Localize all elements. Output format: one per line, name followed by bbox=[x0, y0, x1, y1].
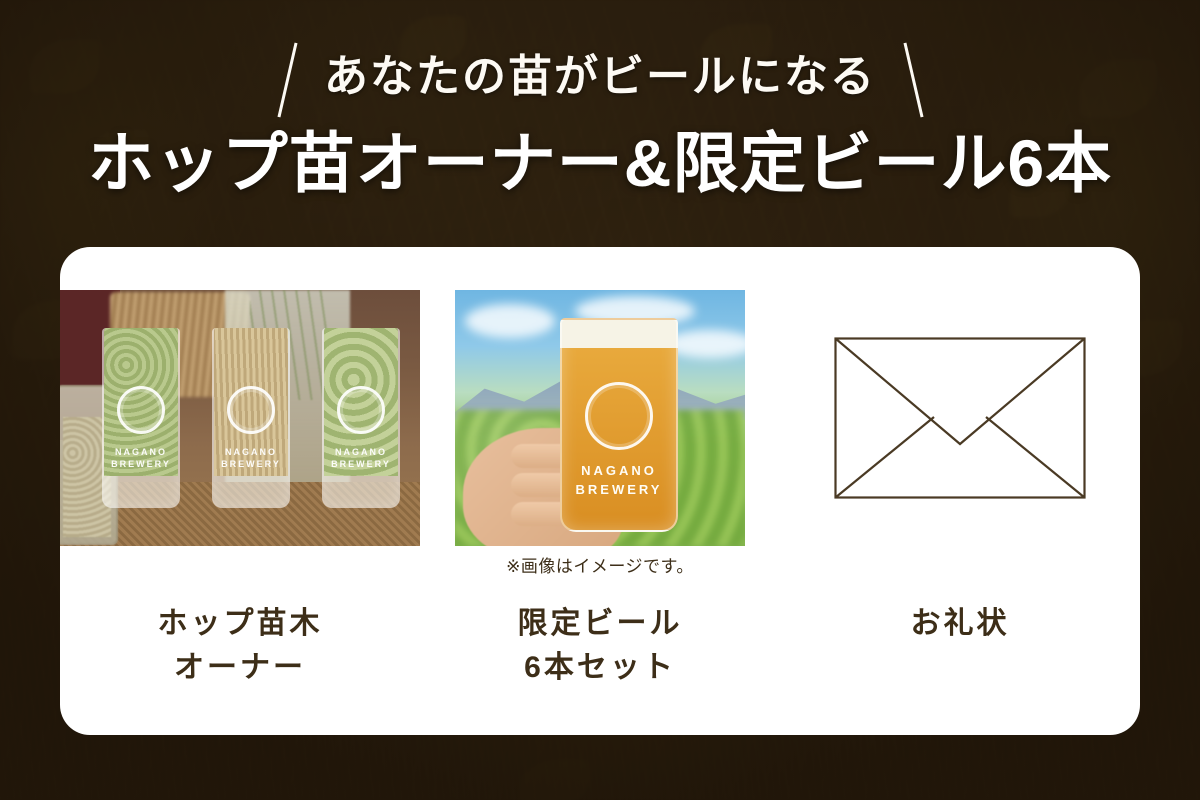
item-limited-beer: NAGANO BREWERY ※画像はイメージです。 限定ビール 6本セット bbox=[420, 247, 780, 735]
photo-hop-glasses: NAGANO BREWERY NAGANO BREWERY NAGANO BRE… bbox=[60, 290, 420, 546]
brewery-seal-icon bbox=[585, 382, 653, 450]
subtitle-row: あなたの苗がビールになる bbox=[0, 34, 1200, 120]
glass-brand-text: NAGANO BREWERY bbox=[104, 446, 178, 470]
glass-hop-cones: NAGANO BREWERY bbox=[322, 328, 400, 508]
item-caption: 限定ビール 6本セット bbox=[420, 602, 780, 689]
envelope-icon bbox=[834, 337, 1086, 499]
brewery-seal-icon bbox=[117, 386, 165, 434]
slash-left-icon bbox=[270, 40, 304, 114]
brewery-seal-icon bbox=[227, 386, 275, 434]
glass-hop-pellets: NAGANO BREWERY bbox=[102, 328, 180, 508]
item-caption: ホップ苗木 オーナー bbox=[60, 602, 420, 689]
page-title: ホップ苗オーナー&限定ビール6本 bbox=[0, 128, 1200, 199]
slash-right-icon bbox=[896, 40, 930, 114]
item-thank-you-letter: お礼状 bbox=[780, 247, 1140, 735]
item-visual-slot bbox=[780, 290, 1140, 546]
item-caption: お礼状 bbox=[780, 602, 1140, 646]
glass-brand-text: NAGANO BREWERY bbox=[324, 446, 398, 470]
subtitle-text: あなたの苗がビールになる bbox=[324, 55, 876, 99]
product-card: NAGANO BREWERY NAGANO BREWERY NAGANO BRE… bbox=[60, 247, 1140, 735]
glass-brand-text: NAGANO BREWERY bbox=[214, 446, 288, 470]
items-row: NAGANO BREWERY NAGANO BREWERY NAGANO BRE… bbox=[60, 247, 1140, 735]
header: あなたの苗がビールになる ホップ苗オーナー&限定ビール6本 bbox=[0, 0, 1200, 240]
beer-glass: NAGANO BREWERY bbox=[560, 318, 678, 532]
brewery-seal-icon bbox=[337, 386, 385, 434]
glass-malt: NAGANO BREWERY bbox=[212, 328, 290, 508]
image-disclaimer-note: ※画像はイメージです。 bbox=[420, 552, 780, 577]
glass-brand-text: NAGANO BREWERY bbox=[562, 462, 676, 500]
item-visual-slot: NAGANO BREWERY NAGANO BREWERY NAGANO BRE… bbox=[60, 290, 420, 546]
item-visual-slot: NAGANO BREWERY bbox=[420, 290, 780, 546]
item-hop-owner: NAGANO BREWERY NAGANO BREWERY NAGANO BRE… bbox=[60, 247, 420, 735]
photo-beer-in-hand: NAGANO BREWERY bbox=[455, 290, 745, 546]
